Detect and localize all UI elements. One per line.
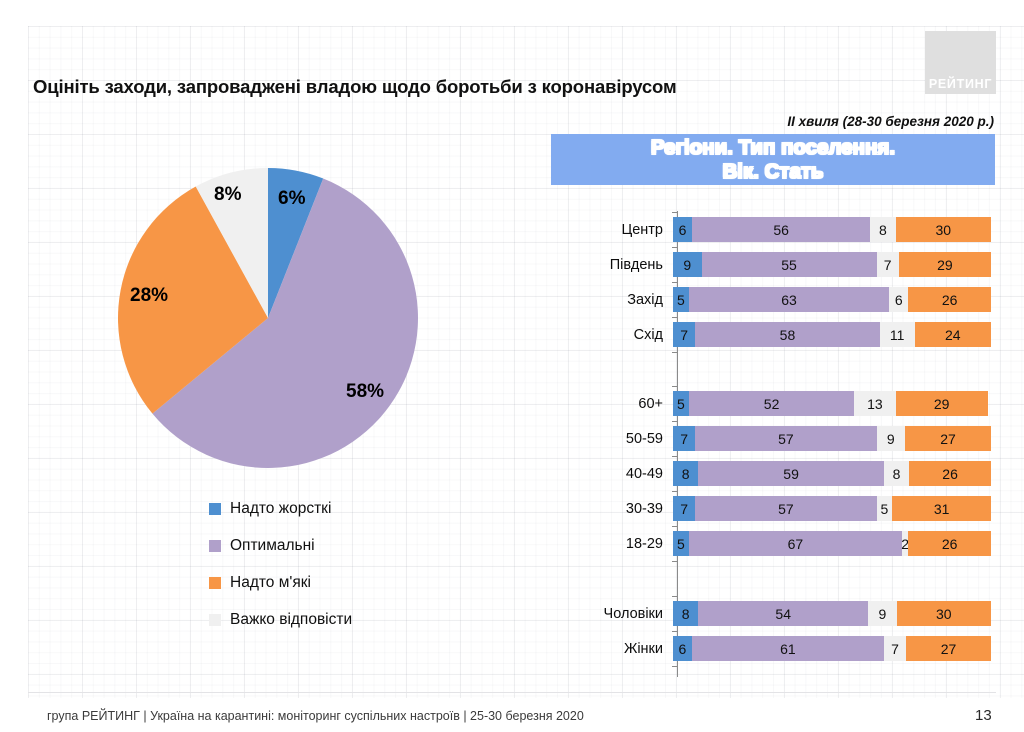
bar-segment[interactable]: 9 — [877, 426, 906, 451]
bar-segment-value: 57 — [778, 501, 794, 517]
pie-chart-legend: Надто жорсткіОптимальніНадто м'якіВажко … — [209, 500, 352, 629]
axis-tick-mark — [672, 631, 678, 632]
bar-segment[interactable]: 9 — [868, 601, 896, 626]
bar-row-track: 757927 — [673, 426, 991, 451]
bar-segment[interactable]: 8 — [673, 461, 698, 486]
bar-segment-value: 7 — [680, 327, 688, 343]
axis-tick-mark — [672, 282, 678, 283]
bar-segment[interactable]: 30 — [896, 217, 991, 242]
bar-segment-value: 29 — [934, 396, 950, 412]
bar-segment-value: 59 — [783, 466, 799, 482]
bar-segment[interactable]: 63 — [689, 287, 889, 312]
bar-row-track: 5521329 — [673, 391, 991, 416]
bar-segment[interactable]: 6 — [889, 287, 908, 312]
bar-segment-value: 26 — [942, 292, 958, 308]
bar-row-category-label: Жінки — [560, 641, 673, 657]
section-banner: Регіони. Тип поселення. Вік. Стать — [551, 134, 995, 185]
bar-row-track: 955729 — [673, 252, 991, 277]
bar-segment-value: 31 — [934, 501, 950, 517]
pie-chart-svg — [118, 168, 418, 468]
bar-chart-row: Схід7581124 — [560, 322, 1005, 347]
bar-row-category-label: Схід — [560, 327, 673, 343]
legend-item[interactable]: Надто м'які — [209, 574, 352, 592]
bar-row-category-label: 18-29 — [560, 536, 673, 552]
footer-divider — [28, 692, 996, 693]
bar-row-track: 656830 — [673, 217, 991, 242]
legend-item[interactable]: Оптимальні — [209, 537, 352, 555]
bar-segment-value: 26 — [942, 466, 958, 482]
bar-segment-value: 67 — [788, 536, 804, 552]
bar-segment[interactable]: 11 — [880, 322, 915, 347]
bar-segment[interactable]: 56 — [692, 217, 870, 242]
bar-segment-value: 7 — [680, 501, 688, 517]
legend-item-label: Надто жорсткі — [230, 500, 331, 518]
bar-segment[interactable]: 9 — [673, 252, 702, 277]
bar-segment-value: 8 — [879, 222, 887, 238]
bar-segment[interactable]: 6 — [673, 636, 692, 661]
bar-segment-value: 13 — [867, 396, 883, 412]
bar-segment-value: 52 — [764, 396, 780, 412]
logo-label: РЕЙТИНГ — [929, 77, 992, 91]
bar-segment-value: 61 — [780, 641, 796, 657]
bar-row-category-label: 30-39 — [560, 501, 673, 517]
bar-segment[interactable]: 8 — [884, 461, 909, 486]
bar-segment-value: 6 — [679, 641, 687, 657]
bar-row-category-label: Південь — [560, 257, 673, 273]
footer-source-text: група РЕЙТИНГ | Україна на карантині: мо… — [47, 709, 584, 723]
bar-segment-value: 5 — [881, 501, 889, 517]
bar-row-category-label: 60+ — [560, 396, 673, 412]
bar-segment-value: 8 — [682, 466, 690, 482]
bar-chart-row: Чоловіки854930 — [560, 601, 1005, 626]
bar-segment-value: 24 — [945, 327, 961, 343]
axis-tick-mark — [672, 352, 678, 353]
bar-segment[interactable]: 57 — [695, 496, 876, 521]
bar-segment-value: 30 — [936, 606, 952, 622]
bar-segment[interactable]: 54 — [698, 601, 868, 626]
bar-segment[interactable]: 6 — [673, 217, 692, 242]
bar-segment-value: 26 — [942, 536, 958, 552]
axis-tick-mark — [672, 247, 678, 248]
page-title: Оцініть заходи, запроваджені владою щодо… — [33, 76, 677, 98]
bar-segment[interactable]: 58 — [695, 322, 879, 347]
bar-segment[interactable]: 27 — [905, 426, 991, 451]
legend-item-label: Оптимальні — [230, 537, 315, 555]
bar-segment[interactable]: 26 — [909, 461, 991, 486]
bar-segment[interactable]: 26 — [908, 287, 991, 312]
bar-segment[interactable]: 67 — [689, 531, 902, 556]
legend-item[interactable]: Надто жорсткі — [209, 500, 352, 518]
bar-row-category-label: Чоловіки — [560, 606, 673, 622]
bar-segment-value: 57 — [778, 431, 794, 447]
bar-row-track: 854930 — [673, 601, 991, 626]
bar-row-track: 661727 — [673, 636, 991, 661]
bar-row-track: 859826 — [673, 461, 991, 486]
bar-segment[interactable]: 61 — [692, 636, 884, 661]
bar-segment-value: 7 — [680, 431, 688, 447]
bar-row-category-label: Захід — [560, 292, 673, 308]
bar-segment-value: 6 — [895, 292, 903, 308]
legend-swatch-icon — [209, 503, 221, 515]
legend-item-label: Важко відповісти — [230, 611, 352, 629]
banner-line-2: Вік. Стать — [722, 160, 823, 184]
bar-segment[interactable]: 59 — [698, 461, 884, 486]
bar-row-category-label: Центр — [560, 222, 673, 238]
bar-segment-value: 27 — [941, 641, 957, 657]
bar-segment-value: 27 — [940, 431, 956, 447]
bar-segment-value: 58 — [780, 327, 796, 343]
bar-segment-value: 9 — [887, 431, 895, 447]
axis-tick-mark — [672, 421, 678, 422]
legend-item[interactable]: Важко відповісти — [209, 611, 352, 629]
legend-item-label: Надто м'які — [230, 574, 311, 592]
legend-swatch-icon — [209, 577, 221, 589]
bar-segment[interactable]: 24 — [915, 322, 991, 347]
bar-segment-value: 9 — [878, 606, 886, 622]
bar-row-track: 567226 — [673, 531, 991, 556]
bar-row-track: 757531 — [673, 496, 991, 521]
bar-segment[interactable]: 5 — [877, 496, 893, 521]
page-number: 13 — [975, 707, 992, 724]
bar-chart-row: Жінки661727 — [560, 636, 1005, 661]
bar-segment[interactable]: 5 — [673, 391, 689, 416]
bar-row-category-label: 50-59 — [560, 431, 673, 447]
bar-segment-value: 30 — [936, 222, 952, 238]
banner-line-1: Регіони. Тип поселення. — [651, 136, 895, 160]
bar-segment[interactable]: 8 — [673, 601, 698, 626]
bar-segment-value: 63 — [781, 292, 797, 308]
bar-segment-value: 55 — [781, 257, 797, 273]
bar-chart-row: Центр656830 — [560, 217, 1005, 242]
bar-segment[interactable]: 27 — [906, 636, 991, 661]
bar-segment[interactable]: 5 — [673, 531, 689, 556]
bar-chart-row: Південь955729 — [560, 252, 1005, 277]
axis-tick-mark — [672, 456, 678, 457]
bar-segment-value: 29 — [937, 257, 953, 273]
bar-row-category-label: 40-49 — [560, 466, 673, 482]
bar-segment-value: 6 — [679, 222, 687, 238]
bar-segment-value: 56 — [773, 222, 789, 238]
bar-row-track: 7581124 — [673, 322, 991, 347]
bar-segment[interactable]: 5 — [673, 287, 689, 312]
axis-tick-mark — [672, 596, 678, 597]
bar-segment[interactable]: 29 — [899, 252, 991, 277]
bar-segment[interactable]: 30 — [897, 601, 991, 626]
legend-swatch-icon — [209, 540, 221, 552]
axis-tick-mark — [672, 491, 678, 492]
bar-segment[interactable]: 7 — [673, 496, 695, 521]
axis-tick-mark — [672, 386, 678, 387]
bar-segment-value: 54 — [775, 606, 791, 622]
pie-slice-label: 58% — [346, 381, 384, 403]
bar-segment[interactable]: 7 — [673, 322, 695, 347]
bar-segment-value: 5 — [677, 396, 685, 412]
bar-segment[interactable]: 7 — [877, 252, 899, 277]
bar-segment[interactable]: 13 — [854, 391, 895, 416]
bar-segment[interactable]: 26 — [908, 531, 991, 556]
bar-segment-value: 9 — [683, 257, 691, 273]
rating-group-logo: РЕЙТИНГ — [925, 31, 996, 94]
bar-segment-value: 8 — [682, 606, 690, 622]
pie-slice-label: 28% — [130, 285, 168, 307]
bar-chart-row: Захід563626 — [560, 287, 1005, 312]
pie-slice-label: 8% — [214, 184, 241, 206]
axis-tick-mark — [672, 561, 678, 562]
stacked-bar-chart: Центр656830Південь955729Захід563626Схід7… — [560, 205, 1005, 685]
bar-segment[interactable]: 57 — [695, 426, 876, 451]
bar-segment-value: 11 — [890, 327, 905, 343]
bar-segment-value: 7 — [884, 257, 892, 273]
axis-tick-mark — [672, 666, 678, 667]
bar-row-track: 563626 — [673, 287, 991, 312]
bar-segment[interactable]: 31 — [892, 496, 991, 521]
bar-segment-value: 8 — [893, 466, 901, 482]
pie-chart: 6%58%28%8% — [118, 168, 418, 468]
axis-tick-mark — [672, 317, 678, 318]
bar-segment[interactable]: 8 — [870, 217, 895, 242]
bar-segment[interactable]: 29 — [896, 391, 988, 416]
axis-tick-mark — [672, 526, 678, 527]
axis-tick-mark — [672, 212, 678, 213]
legend-swatch-icon — [209, 614, 221, 626]
bar-chart-row: 60+5521329 — [560, 391, 1005, 416]
bar-segment-value: 5 — [677, 292, 685, 308]
bar-chart-row: 30-39757531 — [560, 496, 1005, 521]
survey-wave-label: II хвиля (28-30 березня 2020 р.) — [787, 114, 994, 129]
bar-segment[interactable]: 7 — [673, 426, 695, 451]
bar-chart-row: 40-49859826 — [560, 461, 1005, 486]
bar-chart-row: 50-59757927 — [560, 426, 1005, 451]
bar-segment[interactable]: 55 — [702, 252, 877, 277]
pie-slice-label: 6% — [278, 188, 305, 210]
bar-segment[interactable]: 7 — [884, 636, 906, 661]
bar-segment-value: 5 — [677, 536, 685, 552]
bar-segment-value: 7 — [891, 641, 899, 657]
bar-chart-row: 18-29567226 — [560, 531, 1005, 556]
bar-segment[interactable]: 52 — [689, 391, 854, 416]
